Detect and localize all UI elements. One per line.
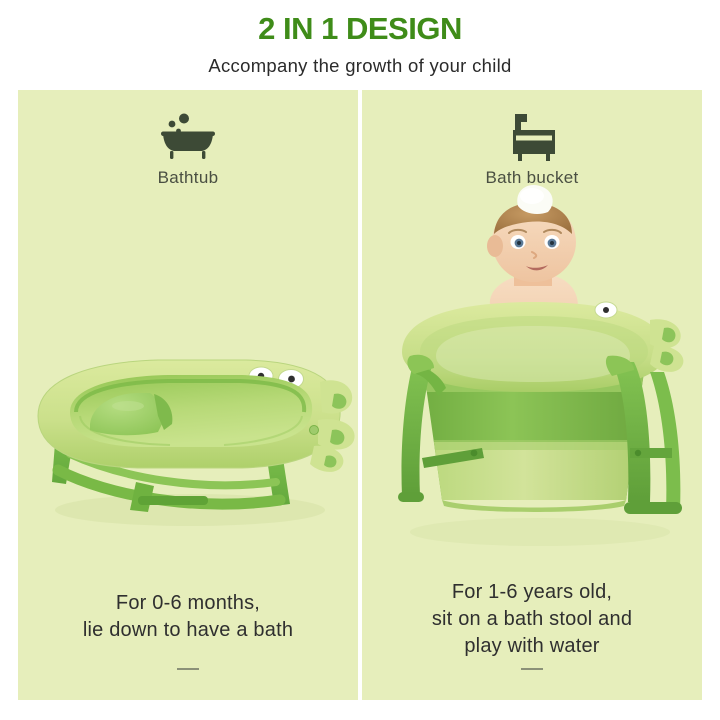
panel-bath-bucket-header: Bath bucket: [362, 108, 702, 188]
bathtub-icon: [18, 108, 358, 164]
product-image-folded-bathtub: [18, 320, 358, 540]
panel-bathtub-header: Bathtub: [18, 108, 358, 188]
bath-bucket-icon: [362, 108, 702, 164]
infographic-page: 2 IN 1 DESIGN Accompany the growth of yo…: [0, 0, 720, 720]
panel-bathtub-caption: For 0-6 months, lie down to have a bath: [18, 590, 358, 644]
page-title: 2 IN 1 DESIGN: [0, 0, 720, 48]
page-subtitle: Accompany the growth of your child: [0, 48, 720, 77]
caption-divider-right: [521, 668, 543, 670]
comparison-panels: Bathtub: [18, 90, 702, 700]
caption-divider-left: [177, 668, 199, 670]
panel-bathtub: Bathtub: [18, 90, 358, 700]
caption-line: play with water: [362, 633, 702, 660]
caption-line: For 0-6 months,: [18, 590, 358, 617]
caption-line: lie down to have a bath: [18, 617, 358, 644]
panel-bath-bucket-caption: For 1-6 years old, sit on a bath stool a…: [362, 579, 702, 660]
product-image-bath-bucket-with-baby: [362, 210, 702, 555]
panel-bath-bucket-label: Bath bucket: [362, 168, 702, 188]
caption-line: sit on a bath stool and: [362, 606, 702, 633]
caption-line: For 1-6 years old,: [362, 579, 702, 606]
panel-bath-bucket: Bath bucket: [362, 90, 702, 700]
panel-bathtub-label: Bathtub: [18, 168, 358, 188]
header: 2 IN 1 DESIGN Accompany the growth of yo…: [0, 0, 720, 88]
